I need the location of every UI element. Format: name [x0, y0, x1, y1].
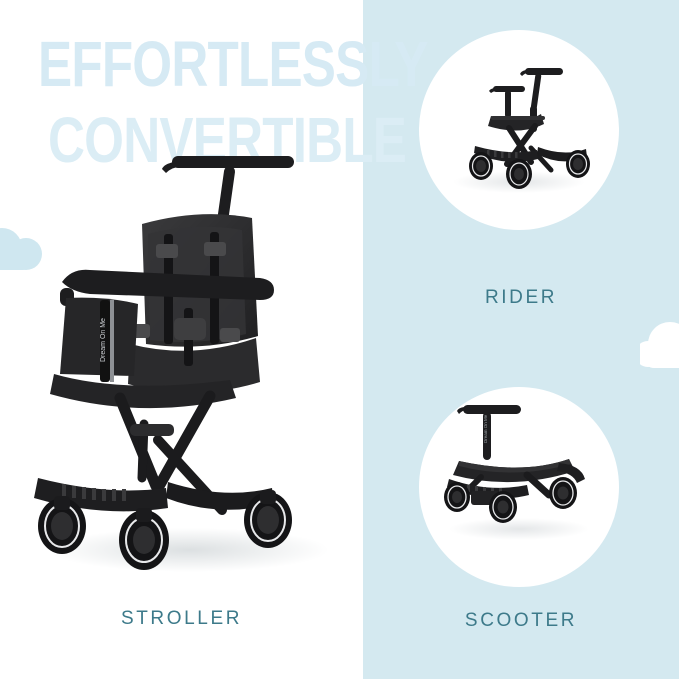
stroller-product-image: Dream On Me — [24, 148, 340, 588]
svg-text:Dream On Me: Dream On Me — [100, 318, 107, 362]
label-scooter: SCOOTER — [363, 610, 679, 632]
rider-circle — [419, 30, 619, 230]
brand-logo: Dream On Me — [100, 300, 114, 382]
svg-text:Dream On Me: Dream On Me — [483, 414, 488, 443]
wheel — [119, 508, 169, 570]
scooter-product-image: Dream On Me — [419, 387, 619, 587]
product-feature-image: EFFORTLESSLY CONVERTIBLE — [0, 0, 679, 679]
label-stroller: STROLLER — [0, 608, 363, 630]
scooter-circle: Dream On Me — [419, 387, 619, 587]
label-rider: RIDER — [363, 287, 679, 309]
rider-product-image — [419, 30, 619, 230]
